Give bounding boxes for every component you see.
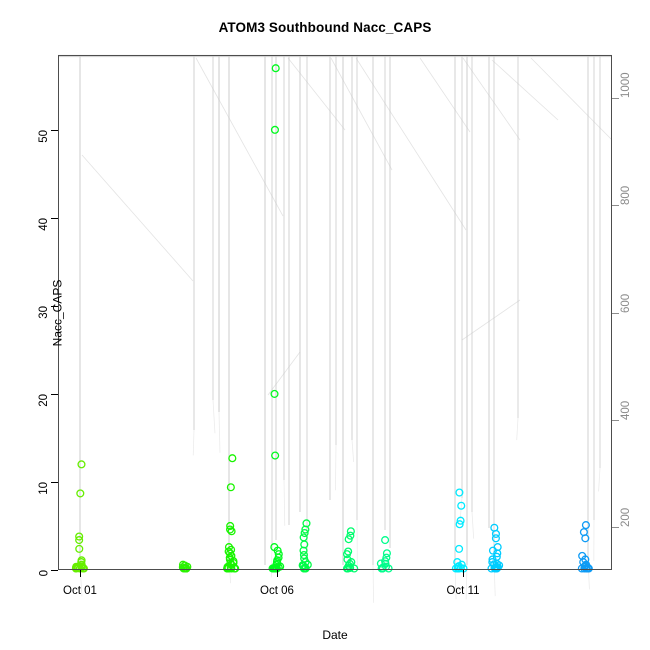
x-axis-label: Date <box>58 628 612 642</box>
y-tick-right <box>612 527 619 528</box>
page-title: ATOM3 Southbound Nacc_CAPS <box>0 20 650 35</box>
y-tick-label-right: 800 <box>620 186 632 205</box>
y-tick-label-right: 200 <box>620 508 632 527</box>
y-tick-label-left: 40 <box>38 218 50 231</box>
x-tick <box>80 570 81 577</box>
y-tick-label-right: 600 <box>620 293 632 312</box>
y-tick-label-right: 400 <box>620 401 632 420</box>
y-tick-label-left: 0 <box>38 570 50 576</box>
y-tick-right <box>612 205 619 206</box>
y-tick-left <box>51 570 58 571</box>
x-tick-label: Oct 11 <box>446 585 479 597</box>
y-tick-label-right: 1000 <box>620 72 632 98</box>
point-cluster <box>377 537 391 572</box>
y-tick-right <box>612 420 619 421</box>
x-tick <box>277 570 278 577</box>
y-tick-left <box>51 130 58 131</box>
y-tick-label-left: 50 <box>38 130 50 143</box>
scatter-plot-figure: ATOM3 Southbound Nacc_CAPS 01020304050 2… <box>0 0 650 650</box>
point-cluster <box>453 489 467 572</box>
point-cluster <box>344 528 358 572</box>
x-tick <box>463 570 464 577</box>
point-cluster <box>578 522 592 572</box>
y-tick-right <box>612 313 619 314</box>
point-cluster <box>224 455 239 572</box>
y-tick-label-left: 10 <box>38 482 50 495</box>
y-tick-label-left: 20 <box>38 394 50 407</box>
y-tick-left <box>51 394 58 395</box>
y-axis-label: Nacc_CAPS <box>50 279 64 346</box>
y-tick-left <box>51 482 58 483</box>
y-tick-right <box>612 98 619 99</box>
scatter-points-layer <box>58 55 612 570</box>
point-cluster <box>488 524 502 572</box>
x-tick-label: Oct 01 <box>63 585 97 597</box>
point-cluster <box>73 461 88 572</box>
y-tick-left <box>51 218 58 219</box>
x-tick-label: Oct 06 <box>260 585 294 597</box>
point-cluster <box>269 65 283 572</box>
y-tick-label-left: 30 <box>38 306 50 319</box>
point-cluster <box>179 561 190 572</box>
point-cluster <box>299 520 311 572</box>
plot-area: 01020304050 2004006008001000 Oct 01Oct 0… <box>58 55 612 570</box>
